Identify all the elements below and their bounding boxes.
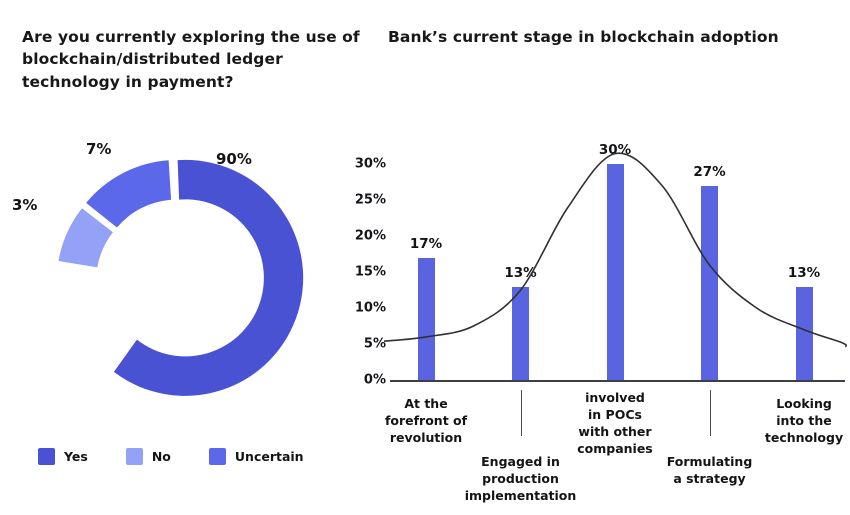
donut-label-uncertain: 7% — [86, 140, 111, 158]
bar — [796, 287, 813, 380]
bar — [607, 164, 624, 380]
bar-chart-x-axis — [390, 380, 845, 382]
legend-item[interactable]: Yes — [38, 448, 88, 465]
y-axis-tick-label: 30% — [340, 157, 386, 172]
bar — [701, 186, 718, 380]
bar — [418, 258, 435, 380]
y-axis-tick-label: 10% — [340, 301, 386, 316]
donut-chart: 90% 7% 3% — [24, 128, 324, 428]
legend-item[interactable]: Uncertain — [209, 448, 304, 465]
legend-swatch — [126, 448, 143, 465]
y-axis-tick-label: 5% — [340, 337, 386, 352]
donut-chart-panel: Are you currently exploring the use of b… — [22, 26, 372, 93]
y-axis-tick-label: 25% — [340, 193, 386, 208]
legend-swatch — [38, 448, 55, 465]
legend-label: No — [152, 449, 171, 464]
bar — [512, 287, 529, 380]
bar-value-label: 17% — [410, 236, 442, 252]
category-leader-line — [521, 390, 523, 436]
x-axis-category-label: Engaged in production implementation — [465, 454, 577, 505]
category-leader-line — [710, 390, 712, 436]
donut-label-no: 3% — [12, 196, 37, 214]
x-axis-category-label: Looking into the technology — [765, 396, 843, 447]
x-axis-category-label: At the forefront of revolution — [385, 396, 467, 447]
bar-value-label: 13% — [504, 265, 536, 281]
y-axis-tick-label: 15% — [340, 265, 386, 280]
bar-chart-panel: Bank’s current stage in blockchain adopt… — [388, 26, 838, 48]
x-axis-category-label: involved in POCs with other companies — [577, 390, 653, 458]
bar-value-label: 27% — [693, 164, 725, 180]
bar-chart-plot-area: 0%5%10%15%20%25%30%17%13%30%27%13% — [390, 150, 840, 380]
bar-value-label: 30% — [599, 142, 631, 158]
bar-chart-title: Bank’s current stage in blockchain adopt… — [388, 26, 838, 48]
donut-slice-uncertain — [86, 160, 171, 227]
legend-item[interactable]: No — [126, 448, 171, 465]
bar-value-label: 13% — [788, 265, 820, 281]
donut-chart-svg — [24, 128, 324, 428]
donut-chart-title: Are you currently exploring the use of b… — [22, 26, 372, 93]
donut-legend: YesNoUncertain — [38, 448, 342, 465]
y-axis-tick-label: 0% — [340, 373, 386, 388]
donut-label-yes: 90% — [216, 150, 252, 168]
legend-label: Uncertain — [235, 449, 304, 464]
legend-swatch — [209, 448, 226, 465]
legend-label: Yes — [64, 449, 88, 464]
bar-chart: 0%5%10%15%20%25%30%17%13%30%27%13% At th… — [340, 140, 845, 500]
y-axis-tick-label: 20% — [340, 229, 386, 244]
x-axis-category-label: Formulating a strategy — [667, 454, 753, 488]
